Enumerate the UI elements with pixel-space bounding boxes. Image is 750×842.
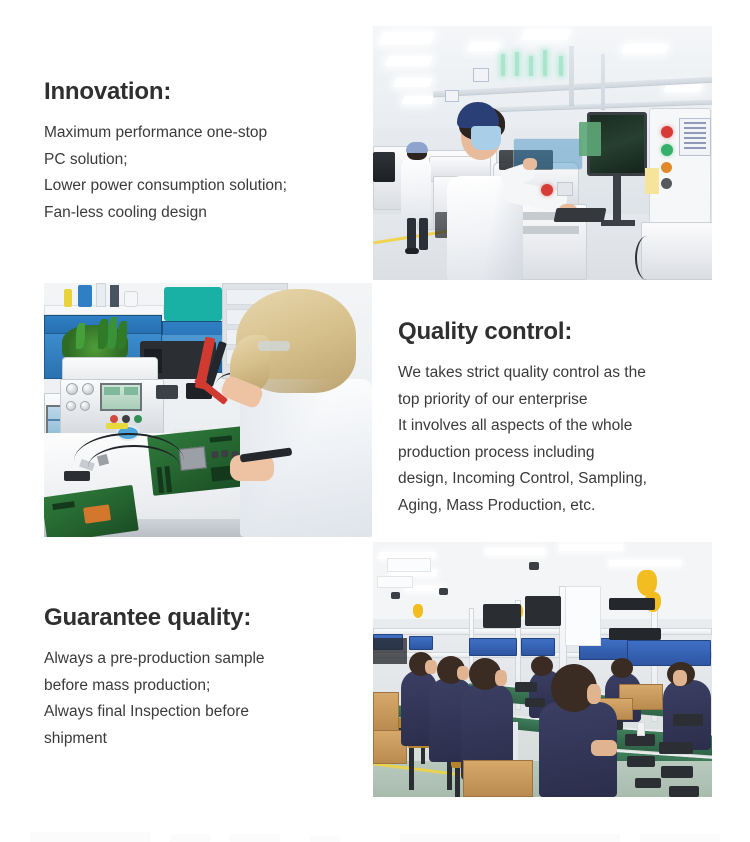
- quality-control-line-5: design, Incoming Control, Sampling,: [398, 466, 708, 493]
- guarantee-quality-text-block: Guarantee quality: Always a pre-producti…: [44, 604, 364, 752]
- guarantee-quality-line-2: before mass production;: [44, 673, 364, 700]
- quality-control-text-block: Quality control: We takes strict quality…: [398, 318, 708, 519]
- innovation-line-3: Lower power consumption solution;: [44, 173, 364, 200]
- next-section-sliver: [0, 820, 750, 842]
- guarantee-quality-line-1: Always a pre-production sample: [44, 646, 364, 673]
- quality-control-line-4: production process including: [398, 440, 708, 467]
- quality-control-line-1: We takes strict quality control as the: [398, 360, 708, 387]
- innovation-heading: Innovation:: [44, 78, 364, 106]
- guarantee-quality-line-3: Always final Inspection before: [44, 699, 364, 726]
- lab-testing-photo: [44, 283, 372, 537]
- quality-control-line-2: top priority of our enterprise: [398, 387, 708, 414]
- innovation-text-block: Innovation: Maximum performance one-stop…: [44, 78, 364, 226]
- guarantee-quality-heading: Guarantee quality:: [44, 604, 364, 632]
- assembly-line-photo: [373, 542, 712, 797]
- quality-control-line-3: It involves all aspects of the whole: [398, 413, 708, 440]
- innovation-line-1: Maximum performance one-stop: [44, 120, 364, 147]
- innovation-line-4: Fan-less cooling design: [44, 200, 364, 227]
- guarantee-quality-line-4: shipment: [44, 726, 364, 753]
- capabilities-page: Innovation: Maximum performance one-stop…: [0, 0, 750, 842]
- clean-room-production-photo: [373, 26, 712, 280]
- innovation-line-2: PC solution;: [44, 147, 364, 174]
- quality-control-line-6: Aging, Mass Production, etc.: [398, 493, 708, 520]
- quality-control-heading: Quality control:: [398, 318, 708, 346]
